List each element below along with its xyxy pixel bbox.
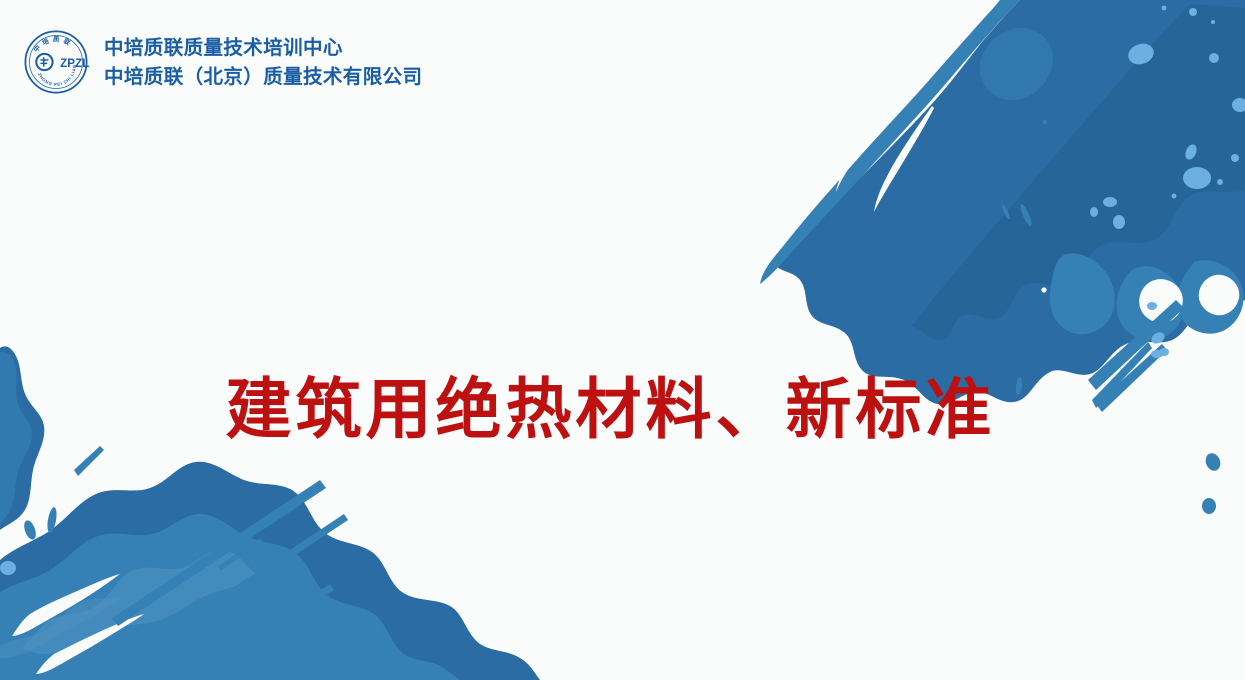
brand-header: ZPZL 中培质联 ZHONG PEI ZHI LIAN 中培质联质量技术培训中… xyxy=(22,28,422,96)
blue-paint-splash-artwork xyxy=(0,0,1245,680)
brand-line-1: 中培质联质量技术培训中心 xyxy=(104,36,422,62)
top-right-splash-group xyxy=(760,0,1245,404)
brand-line-2: 中培质联（北京）质量技术有限公司 xyxy=(104,65,422,91)
right-side-splatter-group xyxy=(1001,203,1244,514)
zpzl-circular-seal-logo: ZPZL 中培质联 ZHONG PEI ZHI LIAN xyxy=(22,28,90,96)
slide-canvas: ZPZL 中培质联 ZHONG PEI ZHI LIAN 中培质联质量技术培训中… xyxy=(0,0,1245,680)
brand-text-block: 中培质联质量技术培训中心 中培质联（北京）质量技术有限公司 xyxy=(104,34,422,90)
title-container: 建筑用绝热材料、新标准 xyxy=(0,372,1245,450)
page-title: 建筑用绝热材料、新标准 xyxy=(226,372,996,450)
